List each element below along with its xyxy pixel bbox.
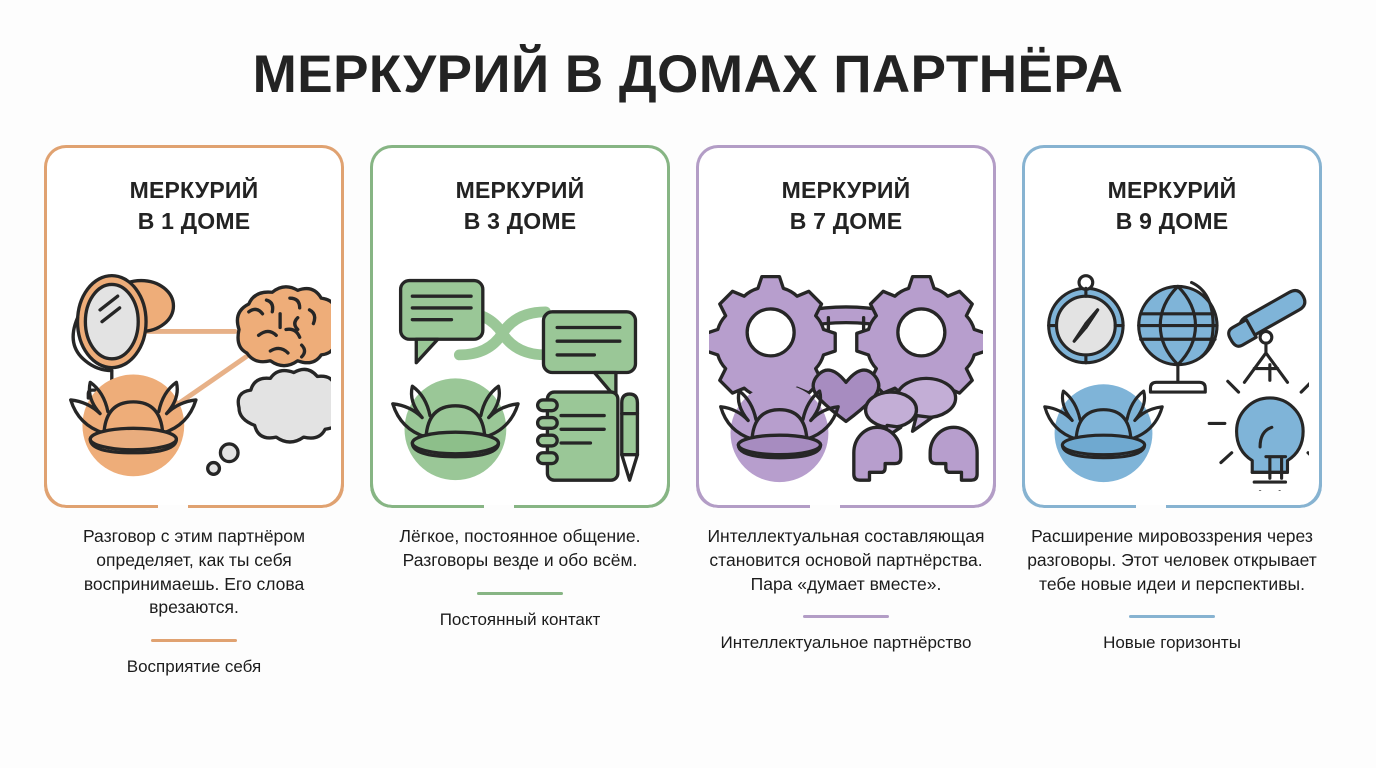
lightbulb-icon <box>1209 365 1309 491</box>
card-column-house-3: МЕРКУРИЙ В 3 ДОМЕ <box>370 145 670 678</box>
card-caption-house-3: Лёгкое, постоянное общение. Разговоры ве… <box>370 525 670 631</box>
card-artwork-house-1 <box>57 256 331 491</box>
card-title-line1: МЕРКУРИЙ <box>782 177 911 203</box>
card-column-house-7: МЕРКУРИЙ В 7 ДОМЕ <box>696 145 996 678</box>
card-caption-house-9: Расширение мировоззрения через разговоры… <box>1022 525 1322 654</box>
card-title-house-1: МЕРКУРИЙ В 1 ДОМЕ <box>47 175 341 236</box>
card-description: Расширение мировоззрения через разговоры… <box>1022 525 1322 596</box>
card-artwork-house-3 <box>383 256 657 491</box>
accent-divider <box>803 615 889 618</box>
pen-icon <box>622 394 638 480</box>
card-title-line1: МЕРКУРИЙ <box>130 177 259 203</box>
card-keyword: Новые горизонты <box>1022 632 1322 654</box>
card-title-line1: МЕРКУРИЙ <box>1108 177 1237 203</box>
accent-divider <box>1129 615 1215 618</box>
winged-helmet-icon <box>1045 384 1162 482</box>
globe-icon <box>1139 282 1217 392</box>
card-caption-house-1: Разговор с этим партнёром определяет, ка… <box>44 525 344 678</box>
card-title-house-3: МЕРКУРИЙ В 3 ДОМЕ <box>373 175 667 236</box>
card-caption-house-7: Интеллектуальная составляющая становится… <box>696 525 996 654</box>
winged-helmet-icon <box>393 378 518 480</box>
card-house-7[interactable]: МЕРКУРИЙ В 7 ДОМЕ <box>696 145 996 505</box>
winged-helmet-icon <box>721 384 838 482</box>
card-column-house-1: МЕРКУРИЙ В 1 ДОМЕ <box>44 145 344 678</box>
accent-divider <box>477 592 563 595</box>
infographic-page: МЕРКУРИЙ В ДОМАХ ПАРТНЁРА МЕРКУРИЙ В 1 Д… <box>0 0 1376 768</box>
thought-cloud-icon <box>208 369 331 474</box>
card-artwork-house-7 <box>709 256 983 491</box>
cards-grid: МЕРКУРИЙ В 1 ДОМЕ <box>44 145 1336 678</box>
accent-divider <box>151 639 237 642</box>
card-house-3[interactable]: МЕРКУРИЙ В 3 ДОМЕ <box>370 145 670 505</box>
card-title-house-9: МЕРКУРИЙ В 9 ДОМЕ <box>1025 175 1319 236</box>
card-title-line2: В 9 ДОМЕ <box>1116 208 1229 234</box>
telescope-icon <box>1229 291 1305 383</box>
card-description: Разговор с этим партнёром определяет, ка… <box>44 525 344 620</box>
brain-icon <box>237 287 331 366</box>
card-description: Лёгкое, постоянное общение. Разговоры ве… <box>370 525 670 573</box>
card-title-line1: МЕРКУРИЙ <box>456 177 585 203</box>
card-keyword: Интеллектуальное партнёрство <box>696 632 996 654</box>
page-title: МЕРКУРИЙ В ДОМАХ ПАРТНЁРА <box>0 44 1376 105</box>
card-artwork-house-9 <box>1035 256 1309 491</box>
card-house-9[interactable]: МЕРКУРИЙ В 9 ДОМЕ <box>1022 145 1322 505</box>
card-title-line2: В 3 ДОМЕ <box>464 208 577 234</box>
speech-bubble-right <box>543 312 635 398</box>
card-keyword: Постоянный контакт <box>370 609 670 631</box>
card-keyword: Восприятие себя <box>44 656 344 678</box>
card-column-house-9: МЕРКУРИЙ В 9 ДОМЕ <box>1022 145 1322 678</box>
card-title-line2: В 1 ДОМЕ <box>138 208 251 234</box>
winged-helmet-icon <box>71 374 196 476</box>
card-title-house-7: МЕРКУРИЙ В 7 ДОМЕ <box>699 175 993 236</box>
notebook-icon <box>538 392 618 480</box>
two-heads-icon <box>854 427 977 480</box>
compass-icon <box>1049 276 1123 363</box>
card-description: Интеллектуальная составляющая становится… <box>696 525 996 596</box>
card-house-1[interactable]: МЕРКУРИЙ В 1 ДОМЕ <box>44 145 344 505</box>
card-title-line2: В 7 ДОМЕ <box>790 208 903 234</box>
